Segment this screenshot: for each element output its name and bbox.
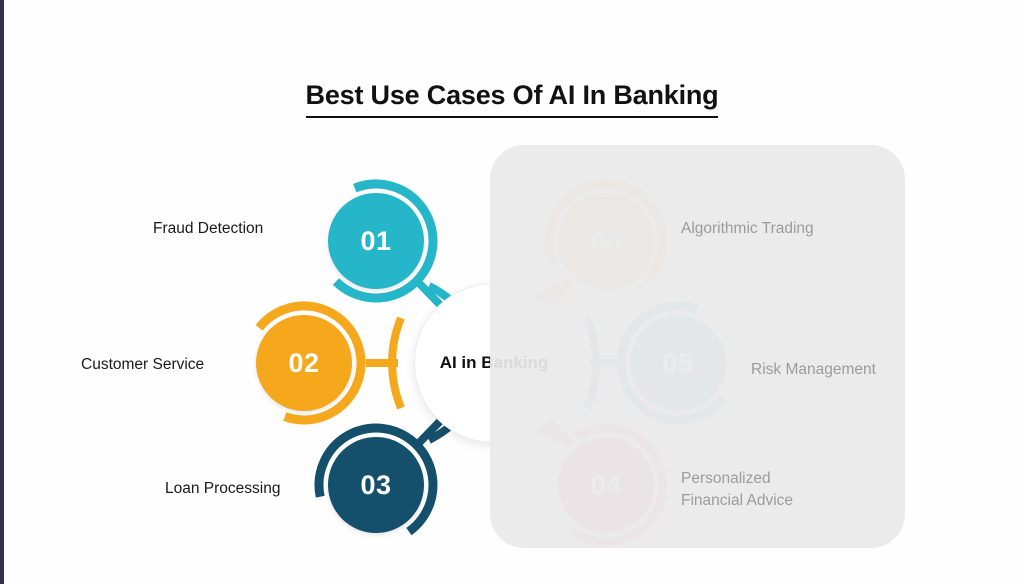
- node-number-05: 05: [662, 348, 693, 379]
- node-label-05: Risk Management: [751, 359, 876, 381]
- node-number-03: 03: [360, 470, 391, 501]
- node-label-04-line2: Financial Advice: [681, 490, 793, 512]
- node-number-06: 06: [590, 226, 621, 257]
- center-hub-label: AI in Banking: [440, 353, 549, 373]
- node-number-01: 01: [360, 226, 391, 257]
- slide-canvas: Best Use Cases Of AI In Banking: [0, 0, 1024, 584]
- node-number-02: 02: [288, 348, 319, 379]
- node-circle-05[interactable]: 05: [630, 315, 726, 411]
- hub-and-spoke-diagram: 01 02 03 04 05 06 AI in Banking Fraud De…: [0, 0, 1024, 584]
- node-label-01: Fraud Detection: [153, 218, 263, 240]
- node-label-04-line1: Personalized: [681, 468, 793, 490]
- node-circle-06[interactable]: 06: [558, 193, 654, 289]
- center-hub: AI in Banking: [414, 283, 574, 443]
- node-label-02: Customer Service: [81, 354, 204, 376]
- node-circle-04[interactable]: 04: [558, 437, 654, 533]
- node-circle-01[interactable]: 01: [328, 193, 424, 289]
- node-label-04: Personalized Financial Advice: [681, 468, 793, 513]
- node-circle-03[interactable]: 03: [328, 437, 424, 533]
- node-label-03: Loan Processing: [165, 478, 280, 500]
- node-label-06: Algorithmic Trading: [681, 218, 814, 240]
- node-circle-02[interactable]: 02: [256, 315, 352, 411]
- node-number-04: 04: [590, 470, 621, 501]
